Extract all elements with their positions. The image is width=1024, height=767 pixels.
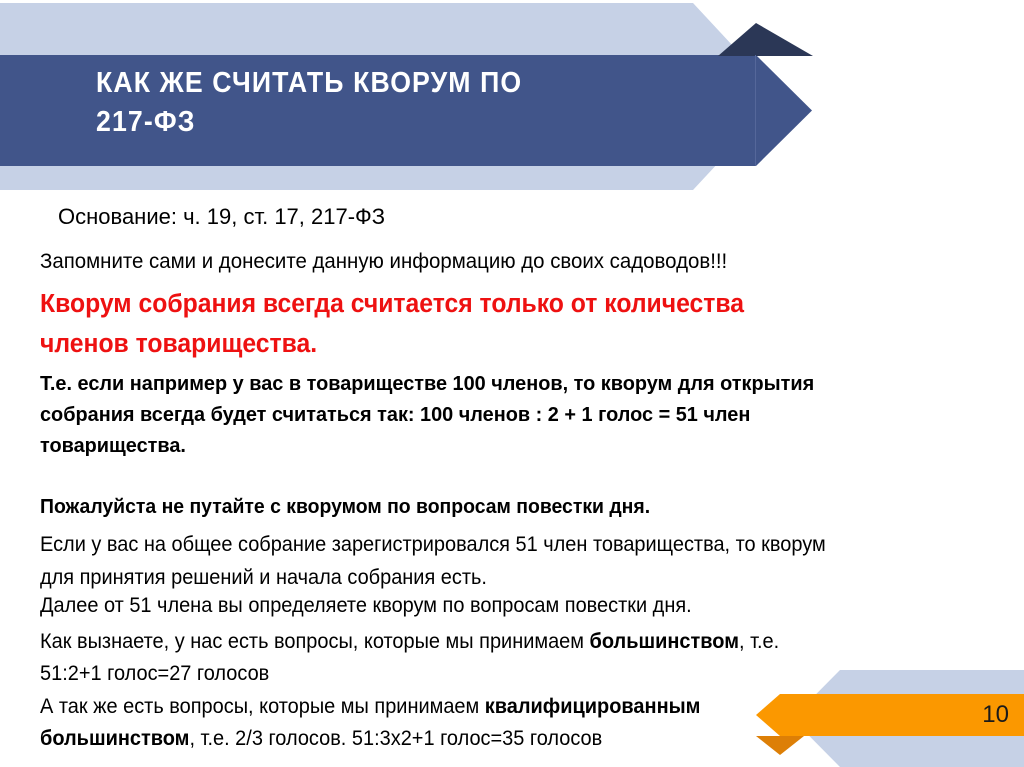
qualified-line-suffix: , т.е. 2/3 голосов. 51:3х2+1 голос=35 го…	[189, 727, 602, 750]
majority-keyword: большинством	[590, 630, 739, 653]
remember-line: Запомните сами и донесите данную информа…	[40, 249, 727, 274]
header-arrow-shadow-triangle	[718, 23, 813, 56]
footer-banner: 10	[756, 670, 1024, 767]
qualified-line: А так же есть вопросы, которые мы приним…	[40, 695, 700, 719]
further-line: Далее от 51 члена вы определяете кворум …	[40, 594, 692, 618]
footer-arrow-shadow-triangle	[756, 736, 804, 755]
qualified-keyword-2: большинством	[40, 727, 189, 750]
red-statement: Кворум собрания всегда считается только …	[40, 284, 744, 364]
majority-calculation: 51:2+1 голос=27 голосов	[40, 662, 269, 686]
majority-line: Как вызнаете, у нас есть вопросы, которы…	[40, 630, 779, 654]
example-paragraph: Т.е. если например у вас в товариществе …	[40, 368, 814, 461]
warning-heading: Пожалуйста не путайте с кворумом по вопр…	[40, 496, 650, 519]
header-banner: КАК ЖЕ СЧИТАТЬ КВОРУМ ПО 217-ФЗ	[0, 0, 1024, 196]
qualified-keyword: квалифицированным	[485, 695, 701, 718]
header-arrow-seam	[755, 55, 756, 166]
registered-paragraph: Если у вас на общее собрание зарегистрир…	[40, 528, 826, 594]
qualified-line-prefix: А так же есть вопросы, которые мы приним…	[40, 695, 485, 718]
page-number: 10	[756, 696, 1009, 734]
basis-line: Основание: ч. 19, ст. 17, 217-ФЗ	[58, 204, 385, 230]
majority-line-suffix: , т.е.	[739, 630, 779, 653]
majority-line-prefix: Как вызнаете, у нас есть вопросы, которы…	[40, 630, 590, 653]
page-title: КАК ЖЕ СЧИТАТЬ КВОРУМ ПО 217-ФЗ	[96, 64, 676, 142]
qualified-line-continued: большинством, т.е. 2/3 голосов. 51:3х2+1…	[40, 727, 602, 751]
